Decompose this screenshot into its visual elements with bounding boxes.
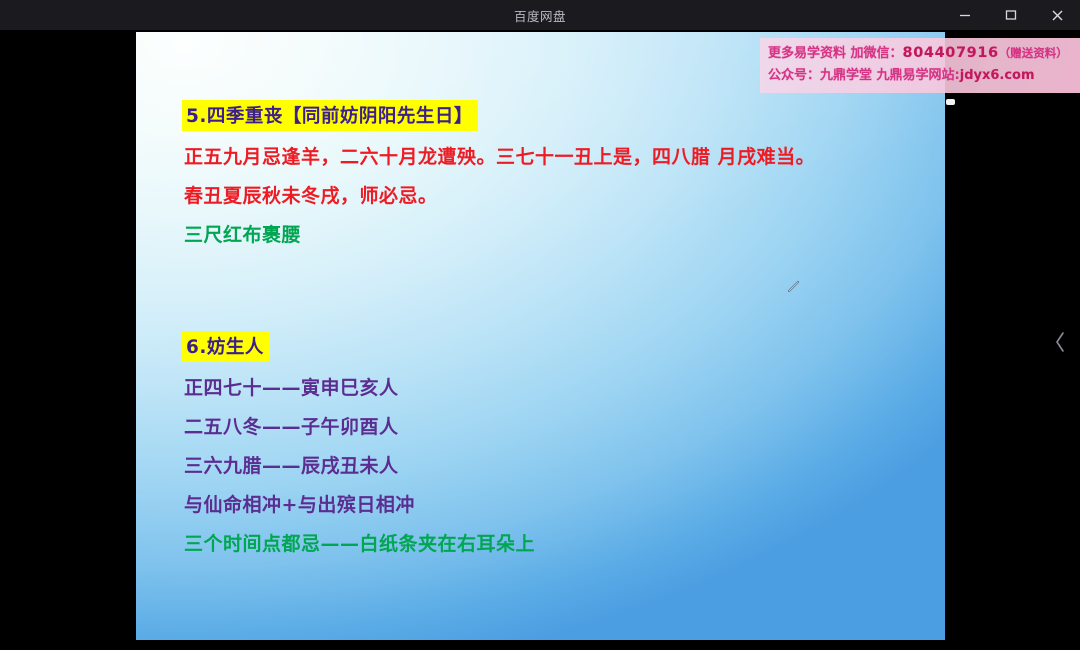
minimize-icon	[959, 9, 971, 21]
section-5-line-1: 正五九月忌逢羊，二六十月龙遭殃。三七十一丑上是，四八腊 月戌难当。	[184, 142, 815, 169]
minimize-button[interactable]	[942, 0, 988, 30]
close-button[interactable]	[1034, 0, 1080, 30]
watermark-website: jdyx6.com	[960, 68, 1035, 83]
edge-artifact	[946, 99, 955, 105]
section-6-line-5: 三个时间点都忌——白纸条夹在右耳朵上	[184, 529, 535, 556]
section-6-heading: 6.妨生人	[182, 331, 269, 362]
watermark-gift-note: （赠送资料）	[999, 46, 1068, 60]
section-6-line-1: 正四七十——寅申巳亥人	[184, 373, 399, 400]
window-controls	[942, 0, 1080, 30]
promo-watermark: 更多易学资料 加微信：804407916（赠送资料） 公众号：九鼎学堂 九鼎易学…	[760, 38, 1080, 93]
window-title: 百度网盘	[514, 6, 566, 25]
sidebar-collapse-button[interactable]	[1048, 322, 1072, 362]
close-icon	[1051, 9, 1064, 22]
section-5-line-2: 春丑夏辰秋未冬戌，师必忌。	[184, 181, 438, 208]
section-5-heading: 5.四季重丧【同前妨阴阳先生日】	[182, 100, 478, 131]
maximize-button[interactable]	[988, 0, 1034, 30]
section-5-line-3: 三尺红布裹腰	[184, 220, 301, 247]
watermark-account-label: 公众号：九鼎学堂 九鼎易学网站:	[768, 68, 960, 83]
watermark-line-1: 更多易学资料 加微信：804407916（赠送资料）	[768, 42, 1080, 65]
chevron-left-icon	[1054, 331, 1067, 353]
title-bar: 百度网盘	[0, 0, 1080, 30]
section-6-line-4: 与仙命相冲+与出殡日相冲	[184, 490, 415, 517]
section-6-line-2: 二五八冬——子午卯酉人	[184, 412, 399, 439]
slide-preview: 5.四季重丧【同前妨阴阳先生日】 正五九月忌逢羊，二六十月龙遭殃。三七十一丑上是…	[136, 32, 945, 640]
maximize-icon	[1005, 9, 1017, 21]
watermark-line-2: 公众号：九鼎学堂 九鼎易学网站:jdyx6.com	[768, 65, 1080, 86]
section-6-line-3: 三六九腊——辰戌丑未人	[184, 451, 399, 478]
watermark-wechat-label: 更多易学资料 加微信：	[768, 46, 903, 61]
baidu-netdisk-window: 百度网盘 5.四季重丧【同前妨阴阳先生日	[0, 0, 1080, 650]
watermark-wechat-number: 804407916	[903, 45, 999, 61]
